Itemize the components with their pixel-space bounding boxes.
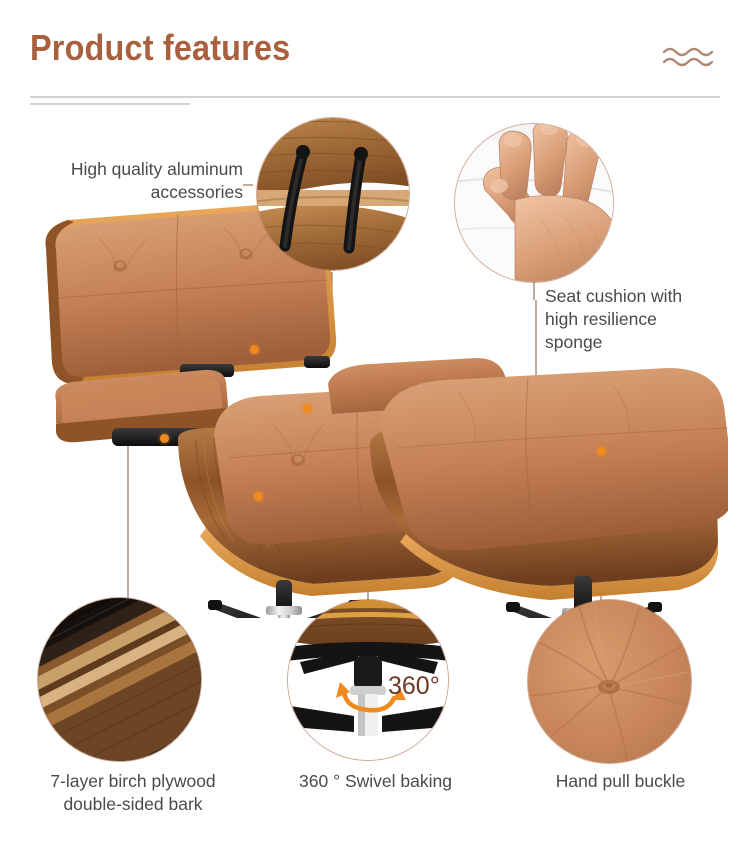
label-birch-plywood: 7-layer birch plywood double-sided bark: [8, 770, 258, 816]
label-hand-pull-buckle: Hand pull buckle: [508, 770, 733, 793]
swivel-360-text: 360°: [388, 672, 440, 700]
label-aluminum-accessories: High quality aluminum accessories: [18, 158, 243, 204]
marker-dot-aluminum: [250, 345, 259, 354]
infographic-canvas: Product features: [0, 0, 750, 850]
marker-dot-plywood: [160, 434, 169, 443]
marker-dot-sponge: [303, 404, 312, 413]
callout-image-buckle: [528, 600, 691, 763]
callout-image-aluminum: [257, 118, 409, 270]
marker-dot-buckle: [597, 447, 606, 456]
callout-image-sponge: [455, 124, 613, 282]
marker-dot-swivel: [254, 492, 263, 501]
callout-image-swivel: 360°: [288, 600, 448, 760]
callout-image-plywood: [38, 598, 201, 761]
label-swivel-baking: 360 ° Swivel baking: [263, 770, 488, 793]
label-seat-cushion-sponge: Seat cushion with high resilience sponge: [545, 285, 745, 354]
